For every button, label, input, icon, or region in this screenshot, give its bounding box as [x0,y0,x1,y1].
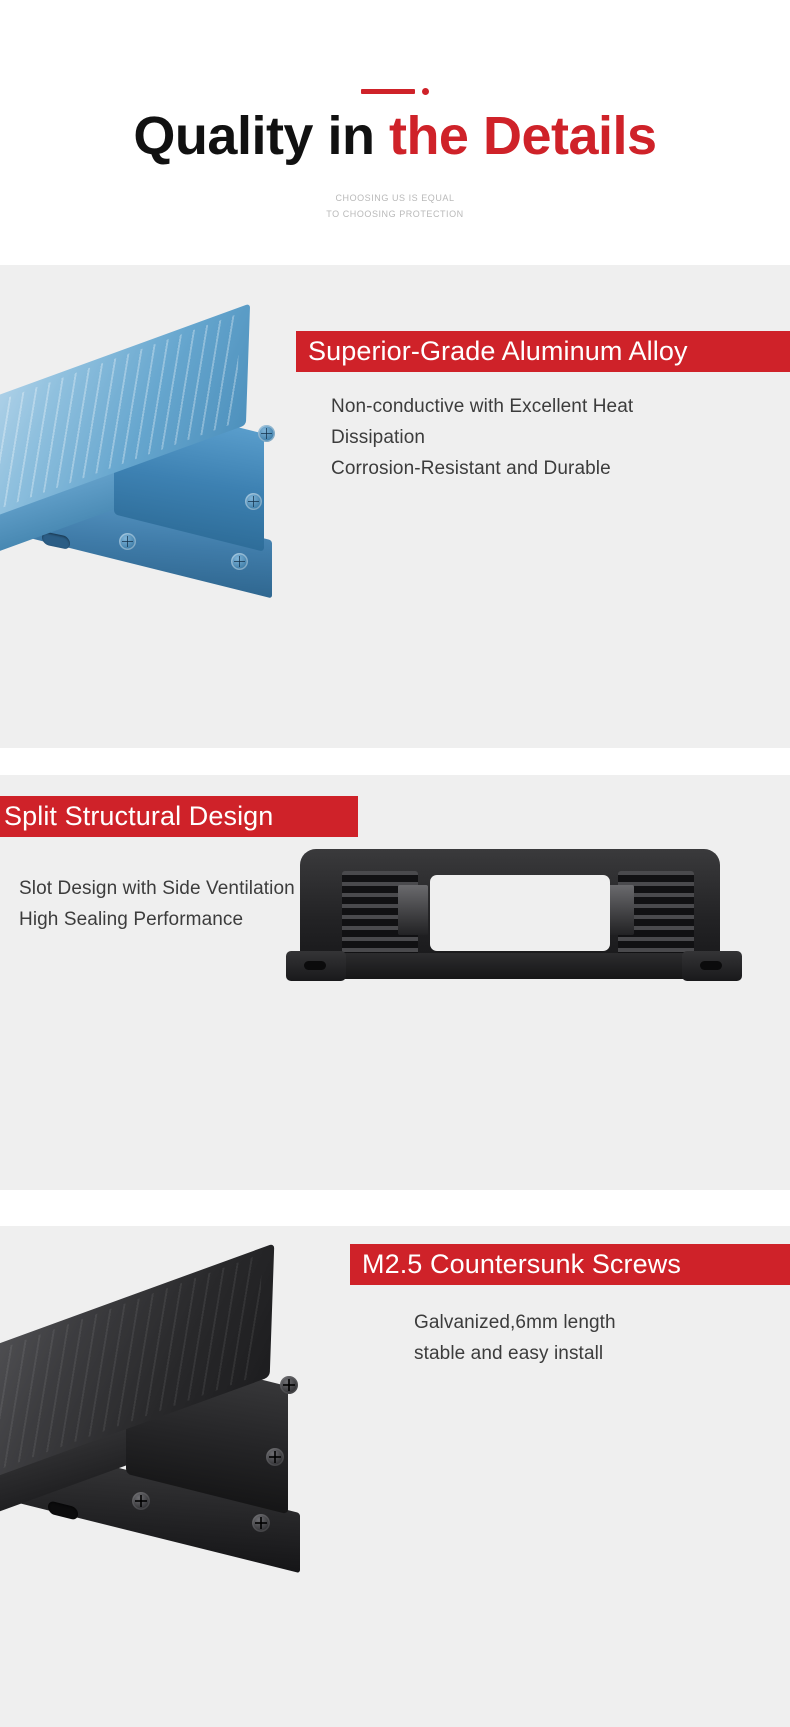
page-header: Quality in the Details CHOOSING US IS EQ… [0,0,790,265]
black-extrusion-cross-section-photo [290,845,790,1015]
section-banner-aluminum-alloy: Superior-Grade Aluminum Alloy [296,331,790,372]
screw-icon [280,1376,298,1394]
section-banner-countersunk-screws: M2.5 Countersunk Screws [350,1244,790,1285]
page-title-red-part: the Details [389,106,657,166]
product-detail-page: Quality in the Details CHOOSING US IS EQ… [0,0,790,1727]
section-body-split-structure: Slot Design with Side Ventilation High S… [19,873,295,935]
red-dot-icon [422,88,429,95]
blue-aluminum-enclosure-photo [0,353,324,593]
screw-icon [119,533,136,550]
section-body-countersunk-screws: Galvanized,6mm length stable and easy in… [414,1307,616,1369]
screw-icon [231,553,248,570]
screw-icon [258,425,275,442]
screw-icon [132,1492,150,1510]
extrusion-right-mounting-hole [700,961,722,970]
feature-section-aluminum-alloy: Superior-Grade Aluminum Alloy Non-conduc… [0,265,790,748]
extrusion-inner-cavity [430,875,610,951]
screw-icon [245,493,262,510]
page-title: Quality in the Details [0,106,790,166]
black-aluminum-enclosure-photo [0,1296,360,1576]
page-subtitle-line-2: TO CHOOSING PROTECTION [0,206,790,222]
page-subtitle: CHOOSING US IS EQUAL TO CHOOSING PROTECT… [0,190,790,222]
section-body-aluminum-alloy: Non-conductive with Excellent Heat Dissi… [331,391,633,484]
screw-icon [252,1514,270,1532]
section-banner-split-structure: Split Structural Design [0,796,358,837]
section-divider [0,748,790,775]
page-title-dark-part: Quality in [133,106,389,166]
page-subtitle-line-1: CHOOSING US IS EQUAL [0,190,790,206]
feature-section-countersunk-screws: M2.5 Countersunk Screws Galvanized,6mm l… [0,1226,790,1727]
extrusion-base-plate [290,953,736,979]
accent-rule [0,88,790,95]
extrusion-left-mounting-hole [304,961,326,970]
red-dash-icon [361,89,415,94]
section-divider [0,1190,790,1226]
screw-icon [266,1448,284,1466]
feature-section-split-structure: Split Structural Design Slot Design with… [0,775,790,1190]
extrusion-left-slot [398,885,428,935]
